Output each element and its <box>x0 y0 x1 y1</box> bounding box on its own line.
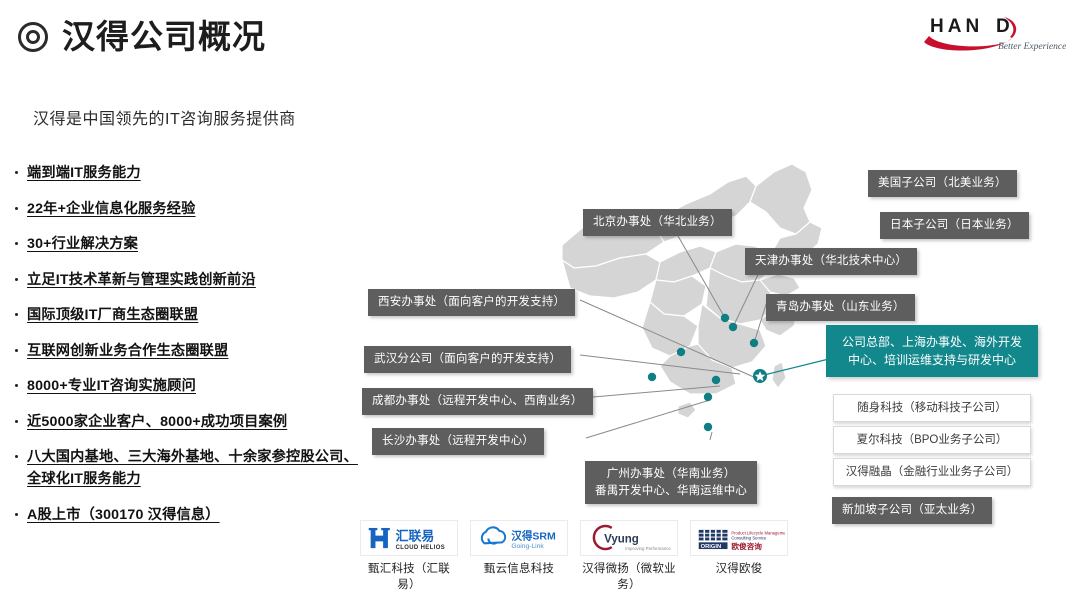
svg-text:Consulting Service: Consulting Service <box>731 535 767 540</box>
headquarters-line1: 公司总部、上海办事处、海外开发 <box>836 333 1028 351</box>
bullet-dot <box>15 278 18 281</box>
brand-tagline: Better Experience <box>998 42 1066 52</box>
bullet-text: 端到端IT服务能力 <box>27 162 141 184</box>
logo-box: ORIGIN Product Lifecycle Management Cons… <box>690 520 788 556</box>
svg-text:D: D <box>996 16 1010 37</box>
list-item: 近5000家企业客户、8000+成功项目案例 <box>12 411 362 433</box>
bullet-dot <box>15 313 18 316</box>
marker-wuhan <box>712 376 720 384</box>
bullet-text: 8000+专业IT咨询实施顾问 <box>27 375 196 397</box>
list-item: 立足IT技术革新与管理实践创新前沿 <box>12 269 362 291</box>
list-item: A股上市（300170 汉得信息） <box>12 504 362 526</box>
subsidiary-item-rongjing[interactable]: 汉得融晶（金融行业业务子公司） <box>833 458 1031 486</box>
bullet-text: 30+行业解决方案 <box>27 233 138 255</box>
page-title-row: 汉得公司概况 <box>18 20 266 53</box>
marker-changsha <box>704 393 712 401</box>
bullet-text: 八大国内基地、三大海外基地、十余家参控股公司、全球化IT服务能力 <box>27 446 362 490</box>
bullet-text: 立足IT技术革新与管理实践创新前沿 <box>27 269 256 291</box>
list-item: 国际顶级IT厂商生态圈联盟 <box>12 304 362 326</box>
subsidiary-item-xiaer[interactable]: 夏尔科技（BPO业务子公司） <box>833 426 1031 454</box>
list-item: 八大国内基地、三大海外基地、十余家参控股公司、全球化IT服务能力 <box>12 446 362 490</box>
bullet-text: A股上市（300170 汉得信息） <box>27 504 220 526</box>
logo-brand-en: ORIGIN <box>701 544 721 550</box>
bullet-dot <box>15 207 18 210</box>
map-label-xian[interactable]: 西安办事处（面向客户的开发支持） <box>368 289 575 316</box>
map-label-changsha[interactable]: 长沙办事处（远程开发中心） <box>372 428 544 455</box>
feature-bullet-list: 端到端IT服务能力 22年+企业信息化服务经验 30+行业解决方案 立足IT技术… <box>12 162 362 539</box>
marker-xian <box>677 348 685 356</box>
logo-brand-en: CLOUD HELIOS <box>396 545 445 551</box>
partner-caption: 汉得欧俊 <box>716 562 763 578</box>
h-mark-icon: 汇联易 CLOUD HELIOS <box>363 522 455 555</box>
list-item: 22年+企业信息化服务经验 <box>12 198 362 220</box>
slide-root: 汉得公司概况 汉得是中国领先的IT咨询服务提供商 HAN D Better Ex… <box>0 0 1080 607</box>
map-label-guangzhou[interactable]: 广州办事处（华南业务） 番禺开发中心、华南运维中心 <box>585 461 757 504</box>
bullet-text: 近5000家企业客户、8000+成功项目案例 <box>27 411 287 433</box>
logo-brand-cn: 欧俊咨询 <box>731 541 762 551</box>
logo-box: Vyung Improving Performance <box>580 520 678 556</box>
page-subtitle: 汉得是中国领先的IT咨询服务提供商 <box>33 105 296 129</box>
partner-logo-zhenyun[interactable]: 汉得SRM Going-Link 甄云信息科技 <box>470 520 568 593</box>
bullet-dot <box>15 242 18 245</box>
bullet-text: 互联网创新业务合作生态圈联盟 <box>27 340 228 362</box>
list-item: 8000+专业IT咨询实施顾问 <box>12 375 362 397</box>
subsidiary-item-suishen[interactable]: 随身科技（移动科技子公司） <box>833 394 1031 422</box>
partner-logo-strip: 汇联易 CLOUD HELIOS 甄汇科技（汇联易） 汉得SRM Going-L… <box>360 520 788 593</box>
partner-logo-origin[interactable]: ORIGIN Product Lifecycle Management Cons… <box>690 520 788 593</box>
cloud-mark-icon: 汉得SRM Going-Link <box>473 522 565 555</box>
vyung-mark-icon: Vyung Improving Performance <box>583 522 675 555</box>
bullet-dot <box>15 349 18 352</box>
marker-guangzhou <box>704 423 712 431</box>
svg-text:HAN: HAN <box>930 16 983 37</box>
map-label-japan[interactable]: 日本子公司（日本业务） <box>880 212 1029 239</box>
page-title: 汉得公司概况 <box>62 20 266 53</box>
marker-qingdao <box>750 339 758 347</box>
logo-brand-cn: 汉得SRM <box>511 529 556 542</box>
bullet-text: 国际顶级IT厂商生态圈联盟 <box>27 304 198 326</box>
marker-shanghai-star <box>753 369 767 383</box>
bullet-dot <box>15 513 18 516</box>
headquarters-callout[interactable]: 公司总部、上海办事处、海外开发 中心、培训运维支持与研发中心 <box>826 325 1038 377</box>
logo-brand-cn: Vyung <box>604 533 639 545</box>
partner-logo-vyung[interactable]: Vyung Improving Performance 汉得微扬（微软业务） <box>580 520 678 593</box>
list-item: 互联网创新业务合作生态圈联盟 <box>12 340 362 362</box>
hand-logo: HAN D Better Experience <box>916 8 1066 56</box>
map-label-tianjin[interactable]: 天津办事处（华北技术中心） <box>745 248 917 275</box>
map-label-singapore[interactable]: 新加坡子公司（亚太业务） <box>832 497 992 524</box>
map-label-qingdao[interactable]: 青岛办事处（山东业务） <box>766 294 915 321</box>
map-label-beijing[interactable]: 北京办事处（华北业务） <box>583 209 732 236</box>
map-label-guangzhou-line1: 广州办事处（华南业务） <box>595 466 747 483</box>
list-item: 端到端IT服务能力 <box>12 162 362 184</box>
bullet-dot <box>15 420 18 423</box>
bullet-dot <box>15 384 18 387</box>
partner-caption: 甄汇科技（汇联易） <box>360 562 458 593</box>
partner-logo-huilianyi[interactable]: 汇联易 CLOUD HELIOS 甄汇科技（汇联易） <box>360 520 458 593</box>
partner-caption: 甄云信息科技 <box>484 562 554 578</box>
bullet-text: 22年+企业信息化服务经验 <box>27 198 196 220</box>
headquarters-line2: 中心、培训运维支持与研发中心 <box>836 351 1028 369</box>
list-item: 30+行业解决方案 <box>12 233 362 255</box>
logo-box: 汉得SRM Going-Link <box>470 520 568 556</box>
map-label-chengdu[interactable]: 成都办事处（远程开发中心、西南业务） <box>362 388 593 415</box>
bullet-dot <box>15 171 18 174</box>
map-label-guangzhou-line2: 番禺开发中心、华南运维中心 <box>595 483 747 500</box>
marker-tianjin <box>729 323 737 331</box>
logo-brand-cn: 汇联易 <box>396 528 435 543</box>
partner-caption: 汉得微扬（微软业务） <box>580 562 678 593</box>
map-label-usa[interactable]: 美国子公司（北美业务） <box>868 170 1017 197</box>
logo-brand-en: Going-Link <box>511 543 544 550</box>
logo-box: 汇联易 CLOUD HELIOS <box>360 520 458 556</box>
logo-brand-en: Improving Performance <box>625 546 671 551</box>
marker-chengdu <box>648 373 656 381</box>
map-label-wuhan[interactable]: 武汉分公司（面向客户的开发支持） <box>364 346 571 373</box>
target-icon <box>18 22 48 52</box>
marker-beijing <box>721 314 729 322</box>
bullet-dot <box>15 455 18 458</box>
origin-mark-icon: ORIGIN Product Lifecycle Management Cons… <box>693 522 785 555</box>
